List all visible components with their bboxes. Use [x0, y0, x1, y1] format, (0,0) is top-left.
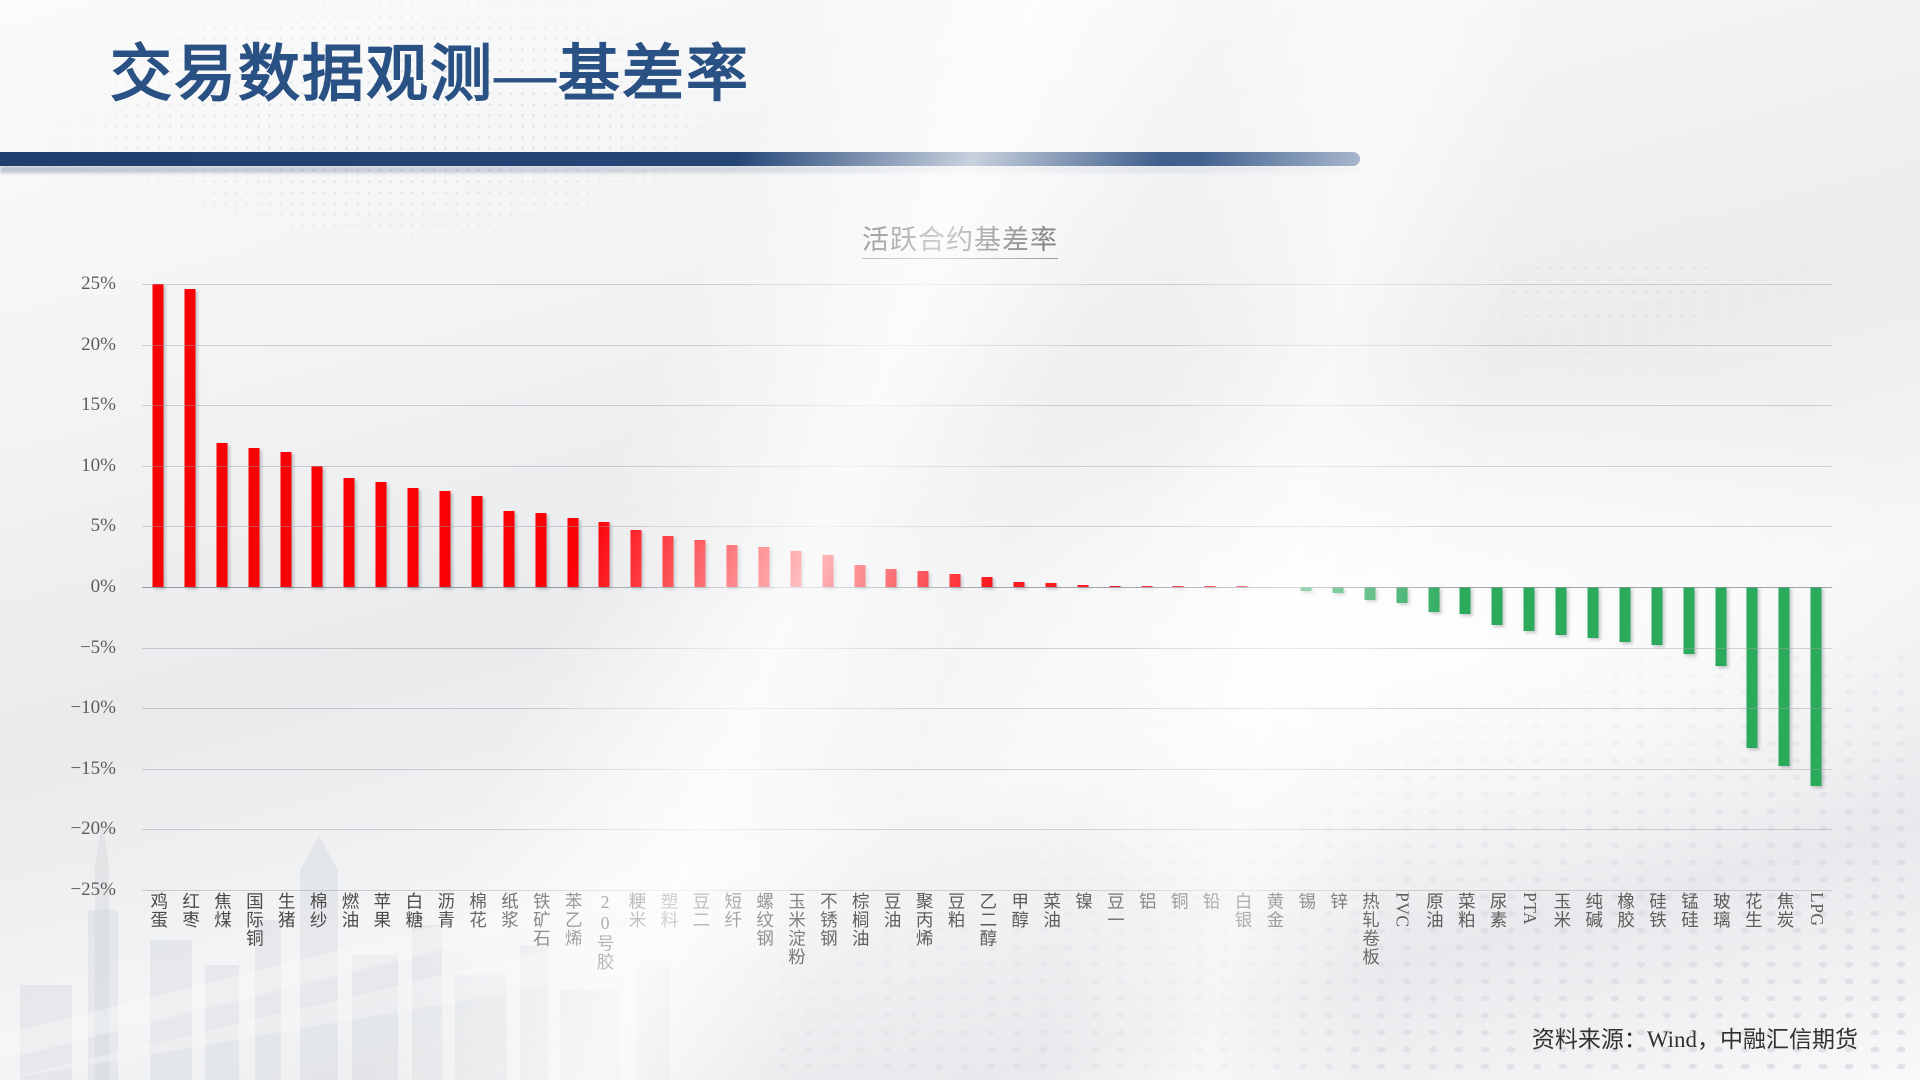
x-axis-tick-label: PTA	[1520, 892, 1538, 925]
x-axis-tick-label: 玻璃	[1712, 892, 1730, 929]
bar	[790, 551, 801, 587]
x-axis-tick-label: 玉米	[1552, 892, 1570, 929]
y-axis-tick-label: −20%	[70, 818, 116, 840]
bar	[1651, 587, 1662, 645]
x-axis-tick-label: 硅铁	[1648, 892, 1666, 929]
bar	[1619, 587, 1630, 642]
bar	[439, 491, 450, 587]
x-axis-tick-label: 20号胶	[596, 892, 614, 971]
source-note: 资料来源：Wind，中融汇信期货	[1532, 1020, 1858, 1054]
bar	[1396, 587, 1407, 603]
bar	[408, 488, 419, 587]
x-axis-label-cell: 硅铁	[1641, 892, 1673, 929]
x-axis-tick-label: 燃油	[341, 892, 359, 929]
bar	[567, 518, 578, 587]
bar	[822, 555, 833, 587]
gridline	[142, 405, 1832, 406]
x-axis-tick-label: 棉花	[468, 892, 486, 929]
gridline	[142, 708, 1832, 709]
x-axis-label-cell: 沥青	[429, 892, 461, 929]
x-axis-label-cell: 白糖	[397, 892, 429, 929]
gridline	[142, 345, 1832, 346]
gridline	[142, 648, 1832, 649]
x-axis-tick-label: 铁矿石	[532, 892, 550, 948]
x-axis-tick-label: 白银	[1233, 892, 1251, 929]
x-axis-tick-label: 尿素	[1489, 892, 1507, 929]
x-axis-tick-label: 锰硅	[1680, 892, 1698, 929]
x-axis-label-cell: 豆二	[684, 892, 716, 929]
bar	[695, 540, 706, 587]
bar	[184, 289, 195, 587]
x-axis-label-cell: 锌	[1322, 892, 1354, 911]
x-axis-label-cell: 短纤	[716, 892, 748, 929]
x-axis-tick-label: 短纤	[723, 892, 741, 929]
x-axis-label-cell: PTA	[1513, 892, 1545, 925]
chart-title: 活跃合约基差率	[0, 218, 1920, 257]
x-axis-tick-label: 不锈钢	[819, 892, 837, 948]
title-accent-bar	[0, 152, 1360, 166]
x-axis-tick-label: 红枣	[181, 892, 199, 929]
x-axis-label-cell: 螺纹钢	[748, 892, 780, 948]
x-axis-label-cell: 豆油	[875, 892, 907, 929]
x-axis-tick-label: 黄金	[1265, 892, 1283, 929]
x-axis-label-cell: 鸡蛋	[142, 892, 174, 929]
bar	[1588, 587, 1599, 638]
bar	[535, 513, 546, 587]
gridline	[142, 526, 1832, 527]
x-axis-tick-label: 锡	[1297, 892, 1315, 911]
x-axis-label-cell: 铝	[1131, 892, 1163, 911]
x-axis-tick-label: 生猪	[277, 892, 295, 929]
bar	[1715, 587, 1726, 666]
x-axis-tick-label: 螺纹钢	[755, 892, 773, 948]
x-axis-label-cell: 铜	[1163, 892, 1195, 911]
x-axis-label-cell: 纯碱	[1577, 892, 1609, 929]
y-axis-tick-label: 15%	[81, 394, 116, 416]
bar	[1364, 587, 1375, 600]
x-axis-label-cell: LPG	[1800, 892, 1832, 927]
x-axis-label-cell: 国际铜	[238, 892, 270, 948]
bar	[631, 530, 642, 587]
bar	[152, 284, 163, 587]
bar	[471, 496, 482, 587]
x-axis-label-cell: 豆粕	[939, 892, 971, 929]
x-axis-label-cell: 甲醇	[1003, 892, 1035, 929]
x-axis-label-cell: 棉花	[461, 892, 493, 929]
x-axis-label-cell: 橡胶	[1609, 892, 1641, 929]
slide-background: 交易数据观测—基差率 活跃合约基差率 25%20%15%10%5%0%−5%−1…	[0, 0, 1920, 1080]
bar	[248, 448, 259, 587]
x-axis-label-cell: 纸浆	[493, 892, 525, 929]
bar	[216, 443, 227, 587]
gridline	[142, 769, 1832, 770]
x-axis-label-cell: 棉纱	[301, 892, 333, 929]
x-axis-label-cell: 花生	[1737, 892, 1769, 929]
bar	[1492, 587, 1503, 625]
x-axis-label-cell: 焦煤	[206, 892, 238, 929]
gridline	[142, 284, 1832, 285]
y-axis-tick-label: −15%	[70, 758, 116, 780]
x-axis-tick-label: 聚丙烯	[915, 892, 933, 948]
x-axis-tick-label: 塑料	[659, 892, 677, 929]
bar	[1683, 587, 1694, 654]
bar	[376, 482, 387, 587]
bar	[1524, 587, 1535, 631]
bar	[982, 577, 993, 587]
bar	[503, 511, 514, 587]
y-axis-tick-label: −5%	[80, 637, 116, 659]
x-axis-label-cell: 乙二醇	[971, 892, 1003, 948]
x-axis-tick-label: 鸡蛋	[149, 892, 167, 929]
y-axis-tick-label: −25%	[70, 879, 116, 901]
y-axis-tick-label: 25%	[81, 273, 116, 295]
x-axis-tick-label: 豆油	[883, 892, 901, 929]
x-axis-label-cell: 铁矿石	[525, 892, 557, 948]
gridline	[142, 829, 1832, 830]
x-axis-label-cell: 黄金	[1258, 892, 1290, 929]
bar	[599, 522, 610, 587]
bar	[886, 569, 897, 587]
x-axis-label-cell: 锡	[1290, 892, 1322, 911]
y-axis-tick-label: 5%	[91, 515, 116, 537]
x-axis-tick-label: 苯乙烯	[564, 892, 582, 948]
x-axis-tick-label: 菜粕	[1457, 892, 1475, 929]
bar	[854, 565, 865, 587]
x-axis-label-cell: 苯乙烯	[557, 892, 589, 948]
x-axis-label-cell: PVC	[1386, 892, 1418, 928]
x-axis-tick-label: 菜油	[1042, 892, 1060, 929]
bar	[344, 478, 355, 587]
x-axis-tick-label: 纸浆	[500, 892, 518, 929]
x-axis-label-cell: 热轧卷板	[1354, 892, 1386, 966]
bar	[918, 571, 929, 587]
x-axis-tick-label: 铜	[1170, 892, 1188, 911]
chart-plot-area	[142, 284, 1832, 890]
x-axis-tick-label: LPG	[1808, 892, 1826, 927]
x-axis-tick-label: 苹果	[372, 892, 390, 929]
bar	[1428, 587, 1439, 612]
y-axis-tick-label: 20%	[81, 334, 116, 356]
x-axis-tick-label: 玉米淀粉	[787, 892, 805, 966]
bar	[758, 547, 769, 587]
gridline	[142, 466, 1832, 467]
x-axis-tick-label: 国际铜	[245, 892, 263, 948]
title-accent-bar-shadow	[0, 166, 1360, 173]
x-axis-label-cell: 棕榈油	[844, 892, 876, 948]
x-axis-label-cell: 玻璃	[1705, 892, 1737, 929]
x-axis-label-cell: 锰硅	[1673, 892, 1705, 929]
bar	[280, 452, 291, 587]
zero-gridline	[142, 587, 1832, 588]
x-axis-label-cell: 焦炭	[1768, 892, 1800, 929]
x-axis-tick-label: 橡胶	[1616, 892, 1634, 929]
y-axis-tick-label: 0%	[91, 576, 116, 598]
x-axis-tick-label: 镍	[1074, 892, 1092, 911]
x-axis-tick-label: 豆一	[1106, 892, 1124, 929]
x-axis-label-cell: 红枣	[174, 892, 206, 929]
x-axis-label-cell: 镍	[1067, 892, 1099, 911]
bar	[1747, 587, 1758, 748]
chart-title-text: 活跃合约基差率	[862, 225, 1058, 259]
x-axis-tick-label: 豆粕	[946, 892, 964, 929]
bar	[663, 536, 674, 587]
x-axis-tick-label: 粳米	[628, 892, 646, 929]
x-axis-label-cell: 玉米	[1545, 892, 1577, 929]
bar	[950, 574, 961, 587]
bar	[1556, 587, 1567, 635]
x-axis-label-cell: 铅	[1194, 892, 1226, 911]
x-axis-tick-label: 焦炭	[1776, 892, 1794, 929]
x-axis-label-cell: 燃油	[333, 892, 365, 929]
x-axis-label-cell: 白银	[1226, 892, 1258, 929]
x-axis-tick-label: 纯碱	[1584, 892, 1602, 929]
x-axis-tick-label: 棕榈油	[851, 892, 869, 948]
x-axis-label-cell: 生猪	[270, 892, 302, 929]
x-axis-label-cell: 苹果	[365, 892, 397, 929]
x-axis-label-cell: 粳米	[620, 892, 652, 929]
x-axis-tick-label: 铅	[1202, 892, 1220, 911]
x-axis-label-cell: 菜油	[1035, 892, 1067, 929]
bar	[1779, 587, 1790, 766]
x-axis-label-cell: 塑料	[652, 892, 684, 929]
x-axis-tick-label: 乙二醇	[978, 892, 996, 948]
x-axis-tick-label: 豆二	[691, 892, 709, 929]
x-axis-tick-label: 原油	[1425, 892, 1443, 929]
x-axis-label-cell: 聚丙烯	[907, 892, 939, 948]
y-axis-tick-label: 10%	[81, 455, 116, 477]
x-axis-label-cell: 豆一	[1099, 892, 1131, 929]
x-axis-tick-label: 甲醇	[1010, 892, 1028, 929]
y-axis-labels: 25%20%15%10%5%0%−5%−10%−15%−20%−25%	[0, 284, 128, 890]
x-axis-tick-label: PVC	[1393, 892, 1411, 928]
x-axis-tick-label: 沥青	[436, 892, 454, 929]
x-axis-label-cell: 原油	[1418, 892, 1450, 929]
page-title: 交易数据观测—基差率	[110, 40, 750, 111]
gridline	[142, 890, 1832, 891]
x-axis-label-cell: 20号胶	[588, 892, 620, 971]
y-axis-tick-label: −10%	[70, 697, 116, 719]
x-axis-tick-label: 焦煤	[213, 892, 231, 929]
x-axis-tick-label: 花生	[1744, 892, 1762, 929]
x-axis-label-cell: 尿素	[1481, 892, 1513, 929]
x-axis-label-cell: 菜粕	[1450, 892, 1482, 929]
bar	[1811, 587, 1822, 786]
x-axis-tick-label: 棉纱	[309, 892, 327, 929]
bar	[1460, 587, 1471, 614]
x-axis-tick-label: 热轧卷板	[1361, 892, 1379, 966]
x-axis-label-cell: 不锈钢	[812, 892, 844, 948]
x-axis-tick-label: 白糖	[404, 892, 422, 929]
x-axis-tick-label: 铝	[1138, 892, 1156, 911]
x-axis-tick-label: 锌	[1329, 892, 1347, 911]
bar	[726, 545, 737, 587]
x-axis-label-cell: 玉米淀粉	[780, 892, 812, 966]
